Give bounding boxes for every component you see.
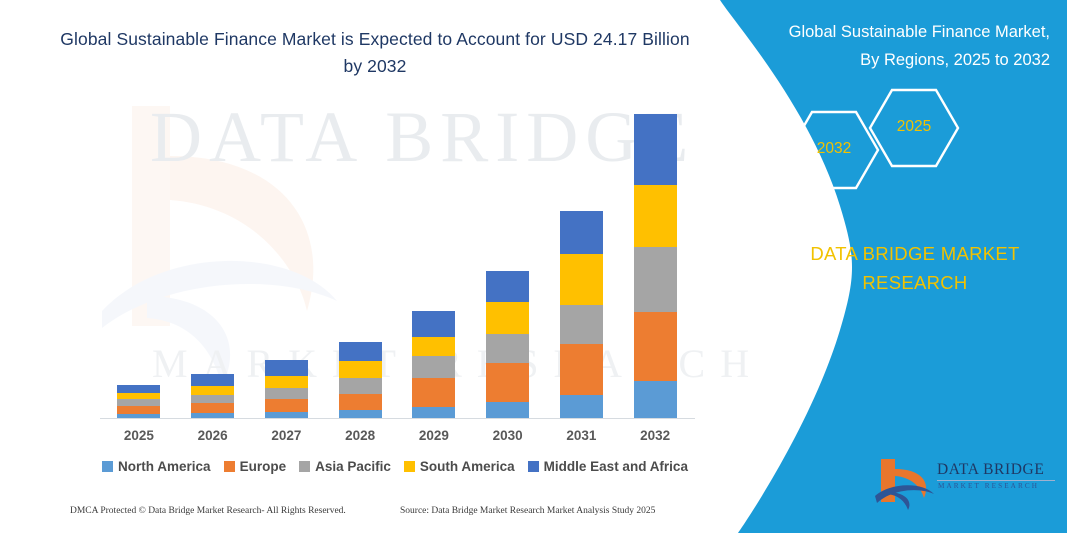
legend-label: South America bbox=[420, 459, 515, 474]
bar-segment bbox=[265, 388, 308, 400]
bar-column-2025 bbox=[117, 385, 160, 418]
chart-legend: North AmericaEuropeAsia PacificSouth Ame… bbox=[100, 456, 690, 476]
x-axis-label-2027: 2027 bbox=[256, 428, 316, 443]
legend-swatch-icon bbox=[224, 461, 235, 472]
page-title: Global Sustainable Finance Market is Exp… bbox=[60, 26, 690, 80]
panel-title-line2: By Regions, 2025 to 2032 bbox=[738, 46, 1050, 74]
axis-baseline bbox=[100, 418, 695, 419]
x-axis-label-2025: 2025 bbox=[109, 428, 169, 443]
panel-title-line1: Global Sustainable Finance Market, bbox=[738, 18, 1050, 46]
legend-label: North America bbox=[118, 459, 211, 474]
legend-label: Asia Pacific bbox=[315, 459, 391, 474]
x-axis-label-2026: 2026 bbox=[183, 428, 243, 443]
bar-column-2029 bbox=[412, 311, 455, 418]
legend-swatch-icon bbox=[299, 461, 310, 472]
brand-line2: RESEARCH bbox=[775, 268, 1055, 297]
panel-content: Global Sustainable Finance Market, By Re… bbox=[660, 0, 1067, 533]
bar-column-2026 bbox=[191, 374, 234, 418]
bar-column-2027 bbox=[265, 360, 308, 418]
bar-segment bbox=[117, 385, 160, 393]
legend-swatch-icon bbox=[404, 461, 415, 472]
bar-segment bbox=[339, 410, 382, 418]
hexagon-label-2025: 2025 bbox=[884, 118, 944, 136]
x-axis-labels: 20252026202720282029203020312032 bbox=[100, 428, 690, 448]
panel-title: Global Sustainable Finance Market, By Re… bbox=[738, 18, 1050, 74]
bar-segment bbox=[412, 356, 455, 378]
x-axis-label-2031: 2031 bbox=[551, 428, 611, 443]
bar-segment bbox=[265, 399, 308, 412]
bar-segment bbox=[412, 407, 455, 418]
brand-line1: DATA BRIDGE MARKET bbox=[775, 239, 1055, 268]
bar-chart-plot bbox=[100, 110, 690, 418]
bar-segment bbox=[560, 211, 603, 254]
bar-segment bbox=[191, 395, 234, 404]
bar-segment bbox=[117, 393, 160, 400]
bar-segment bbox=[191, 403, 234, 413]
bar-segment bbox=[486, 363, 529, 402]
logo-divider bbox=[937, 480, 1055, 481]
bar-segment bbox=[486, 334, 529, 363]
logo-wordmark: DATA BRIDGE bbox=[937, 461, 1057, 479]
legend-label: Europe bbox=[240, 459, 287, 474]
bar-segment bbox=[560, 305, 603, 344]
bar-segment bbox=[560, 344, 603, 395]
bar-segment bbox=[339, 361, 382, 378]
bar-segment bbox=[412, 337, 455, 357]
x-axis-label-2028: 2028 bbox=[330, 428, 390, 443]
bar-segment bbox=[117, 399, 160, 406]
brand-name: DATA BRIDGE MARKET RESEARCH bbox=[775, 239, 1055, 297]
bar-segment bbox=[486, 271, 529, 302]
bar-segment bbox=[339, 378, 382, 394]
company-logo: DATA BRIDGE MARKET RESEARCH bbox=[875, 452, 1060, 514]
footer: DMCA Protected © Data Bridge Market Rese… bbox=[0, 503, 730, 525]
bar-segment bbox=[486, 402, 529, 418]
legend-swatch-icon bbox=[102, 461, 113, 472]
data-bridge-logo-icon bbox=[875, 456, 935, 511]
bar-column-2031 bbox=[560, 211, 603, 418]
bar-segment bbox=[191, 374, 234, 386]
x-axis-label-2029: 2029 bbox=[404, 428, 464, 443]
legend-item[interactable]: Europe bbox=[224, 459, 287, 474]
brand-panel: Global Sustainable Finance Market, By Re… bbox=[660, 0, 1067, 533]
bar-column-2030 bbox=[486, 271, 529, 418]
bar-segment bbox=[191, 386, 234, 395]
chart-pane: DATA BRIDGE MARKET RESEARCH Global Susta… bbox=[0, 0, 730, 533]
bar-segment bbox=[117, 406, 160, 414]
hexagon-label-2032: 2032 bbox=[804, 140, 864, 158]
bar-segment bbox=[265, 376, 308, 388]
legend-item[interactable]: North America bbox=[102, 459, 211, 474]
legend-item[interactable]: Asia Pacific bbox=[299, 459, 391, 474]
x-axis-label-2030: 2030 bbox=[478, 428, 538, 443]
bar-segment bbox=[486, 302, 529, 333]
legend-item[interactable]: South America bbox=[404, 459, 515, 474]
footer-source: Source: Data Bridge Market Research Mark… bbox=[400, 506, 655, 516]
legend-swatch-icon bbox=[528, 461, 539, 472]
footer-copyright: DMCA Protected © Data Bridge Market Rese… bbox=[70, 506, 346, 516]
bar-column-2028 bbox=[339, 342, 382, 418]
bar-segment bbox=[412, 311, 455, 336]
logo-tagline: MARKET RESEARCH bbox=[938, 482, 1058, 490]
bar-segment bbox=[412, 378, 455, 407]
bar-segment bbox=[339, 394, 382, 411]
bar-segment bbox=[339, 342, 382, 362]
bar-segment bbox=[265, 360, 308, 376]
infographic-canvas: DATA BRIDGE MARKET RESEARCH Global Susta… bbox=[0, 0, 1067, 533]
bar-segment bbox=[560, 254, 603, 305]
bar-segment bbox=[560, 395, 603, 418]
hexagon-group: 2032 2025 bbox=[760, 88, 1060, 208]
